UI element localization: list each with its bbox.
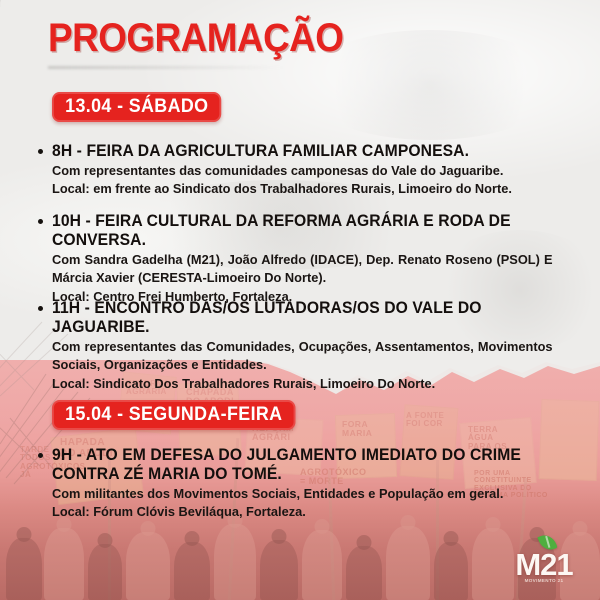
event-item: 9H - ATO EM DEFESA DO JULGAMENTO IMEDIAT… [34,446,574,522]
bullet-icon [38,306,43,311]
logo-wordmark: M21 [506,549,582,580]
event-description: Com Sandra Gadelha (M21), João Alfredo (… [52,251,553,287]
event-heading: 8H - FEIRA DA AGRICULTURA FAMILIAR CAMPO… [52,142,542,161]
bullet-icon [38,149,43,154]
event-heading: 9H - ATO EM DEFESA DO JULGAMENTO IMEDIAT… [52,446,548,484]
event-item: 11H - ENCONTRO DAS/OS LUTADORAS/OS DO VA… [34,299,568,393]
event-heading: 10H - FEIRA CULTURAL DA REFORMA AGRÁRIA … [52,212,542,250]
event-location: Local: Fórum Clóvis Beviláqua, Fortaleza… [52,503,558,521]
date-badge-monday: 15.04 - SEGUNDA-FEIRA [52,400,296,430]
date-badge-saturday: 13.04 - SÁBADO [52,92,222,122]
event-description: Com representantes das comunidades campo… [52,162,553,180]
event-description: Com representantes das Comunidades, Ocup… [52,338,553,374]
bullet-icon [38,219,43,224]
event-heading: 11H - ENCONTRO DAS/OS LUTADORAS/OS DO VA… [52,299,542,337]
event-location: Local: em frente ao Sindicato dos Trabal… [52,180,553,198]
bullet-icon [38,453,43,458]
event-item: 10H - FEIRA CULTURAL DA REFORMA AGRÁRIA … [34,212,568,306]
poster-content: PROGRAMAÇÃO 13.04 - SÁBADO 8H - FEIRA DA… [0,0,600,600]
title-underline [48,66,284,69]
logo-tagline: MOVIMENTO 21 [506,579,582,584]
m21-logo: M21 MOVIMENTO 21 [506,534,582,588]
event-description: Com militantes dos Movimentos Sociais, E… [52,485,558,503]
page-title: PROGRAMAÇÃO [48,18,343,58]
event-location: Local: Sindicato Dos Trabalhadores Rurai… [52,375,553,393]
poster-canvas: CHAPADADO APODIPARA OS HAPADADO APODI RE… [0,0,600,600]
event-item: 8H - FEIRA DA AGRICULTURA FAMILIAR CAMPO… [34,142,568,199]
